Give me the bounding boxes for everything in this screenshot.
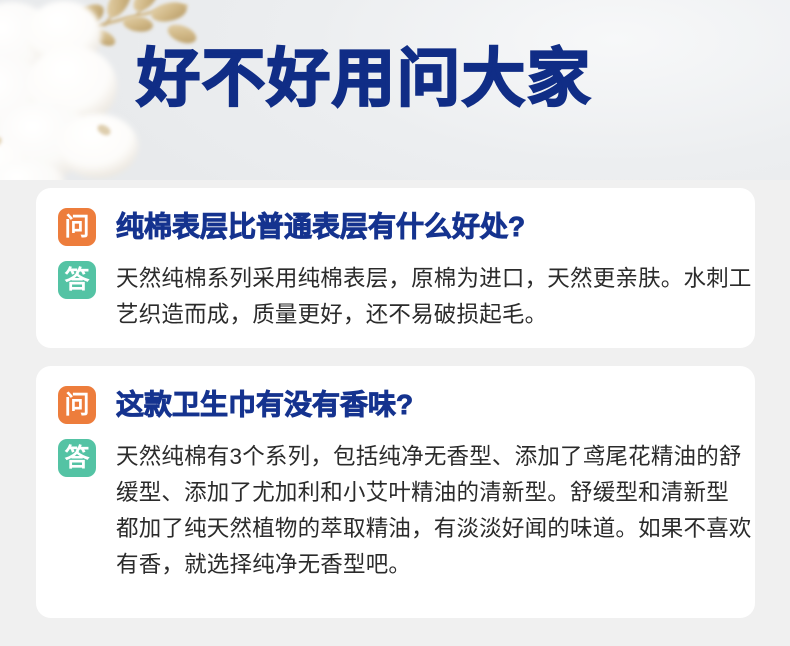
answer-text: 天然纯棉系列采用纯棉表层，原棉为进口，天然更亲肤。水刺工 艺织造而成，质量更好，…: [116, 261, 752, 333]
faq-page: 好不好用问大家 问 纯棉表层比普通表层有什么好处? 答 天然纯棉系列采用纯棉表层…: [0, 0, 790, 646]
page-title: 好不好用问大家: [137, 48, 592, 111]
question-text: 这款卫生巾有没有香味?: [116, 386, 413, 424]
answer-row: 答 天然纯棉有3个系列，包括纯净无香型、添加了鸢尾花精油的舒 缓型、添加了尤加利…: [58, 439, 739, 583]
answer-row: 答 天然纯棉系列采用纯棉表层，原棉为进口，天然更亲肤。水刺工 艺织造而成，质量更…: [58, 261, 739, 333]
answer-line: 缓型、添加了尤加利和小艾叶精油的清新型。舒缓型和清新型: [116, 475, 752, 511]
answer-line: 艺织造而成，质量更好，还不易破损起毛。: [116, 297, 752, 333]
answer-line: 都加了纯天然植物的萃取精油，有淡淡好闻的味道。如果不喜欢: [116, 511, 752, 547]
answer-text: 天然纯棉有3个系列，包括纯净无香型、添加了鸢尾花精油的舒 缓型、添加了尤加利和小…: [116, 439, 752, 583]
answer-line: 天然纯棉有3个系列，包括纯净无香型、添加了鸢尾花精油的舒: [116, 439, 752, 475]
question-badge-icon: 问: [58, 208, 96, 246]
answer-badge-icon: 答: [58, 261, 96, 299]
question-badge-icon: 问: [58, 386, 96, 424]
faq-card: 问 纯棉表层比普通表层有什么好处? 答 天然纯棉系列采用纯棉表层，原棉为进口，天…: [36, 188, 755, 348]
cotton-boll-group: [0, 1, 138, 180]
page-header: 好不好用问大家: [0, 0, 790, 180]
answer-line: 有香，就选择纯净无香型吧。: [116, 547, 752, 583]
question-row: 问 这款卫生巾有没有香味?: [58, 386, 735, 424]
question-text: 纯棉表层比普通表层有什么好处?: [116, 208, 525, 246]
answer-badge-icon: 答: [58, 439, 96, 477]
faq-card: 问 这款卫生巾有没有香味? 答 天然纯棉有3个系列，包括纯净无香型、添加了鸢尾花…: [36, 366, 755, 618]
question-row: 问 纯棉表层比普通表层有什么好处?: [58, 208, 735, 246]
answer-line: 天然纯棉系列采用纯棉表层，原棉为进口，天然更亲肤。水刺工: [116, 261, 752, 297]
